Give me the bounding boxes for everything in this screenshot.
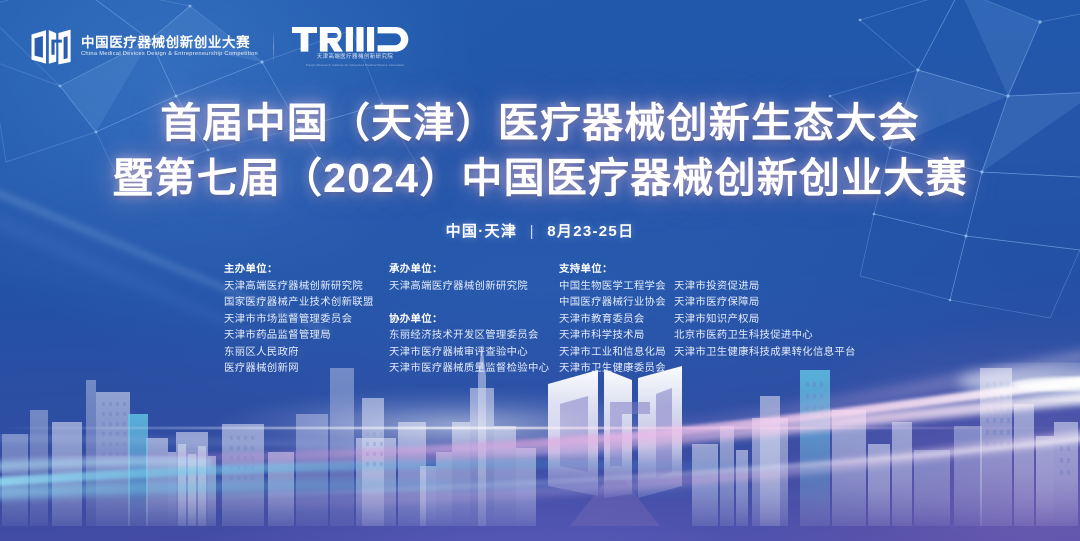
supporter-item: 天津市卫生健康科技成果转化信息平台	[674, 345, 856, 362]
title-line-1: 首届中国（天津）医疗器械创新生态大会	[0, 96, 1080, 151]
institute-name-cn: 天津高端医疗器械创新研究院	[317, 55, 394, 61]
coorganizer-item: 天津市医疗器械质量监督检验中心	[389, 361, 559, 378]
coorganizer-heading: 协办单位：	[389, 312, 559, 329]
organizers-column-supporter-continued: 天津市投资促进局 天津市医疗保障局 天津市知识产权局 北京市医药卫生科技促进中心…	[674, 262, 856, 361]
competition-name-cn: 中国医疗器械创新创业大赛	[81, 36, 255, 50]
host-item: 医疗器械创新网	[224, 361, 389, 378]
supporter-item: 天津市医疗保障局	[674, 295, 856, 312]
host-item: 国家医疗器械产业技术创新联盟	[224, 295, 389, 312]
organizers-block: 主办单位： 天津高端医疗器械创新研究院 国家医疗器械产业技术创新联盟 天津市市场…	[224, 262, 856, 378]
host-item: 天津市药品监督管理局	[224, 328, 389, 345]
horizon-glow	[216, 389, 696, 463]
supporter-item: 天津市工业和信息化局	[559, 345, 674, 362]
competition-logo: 中国医疗器械创新创业大赛 China Medical Devices Desig…	[30, 28, 255, 66]
meta-separator: |	[530, 223, 535, 240]
coorganizer-item: 天津市医疗器械审评查验中心	[389, 345, 559, 362]
supporter-item: 天津市卫生健康委员会	[559, 361, 674, 378]
organizers-column-host: 主办单位： 天津高端医疗器械创新研究院 国家医疗器械产业技术创新联盟 天津市市场…	[224, 262, 389, 378]
organizers-column-supporter: 支持单位： 中国生物医学工程学会 中国医疗器械行业协会 天津市教育委员会 天津市…	[559, 262, 674, 378]
title-line-2: 暨第七届（2024）中国医疗器械创新创业大赛	[0, 151, 1080, 206]
supporter-item: 中国医疗器械行业协会	[559, 295, 674, 312]
competition-name-en: China Medical Devices Design & Entrepren…	[81, 52, 258, 58]
organizers-column-organizer: 承办单位： 天津高端医疗器械创新研究院 协办单位： 东丽经济技术开发区管理委员会…	[389, 262, 559, 378]
supporter-item: 天津市知识产权局	[674, 312, 856, 329]
organizer-item: 天津高端医疗器械创新研究院	[389, 279, 559, 296]
coorganizer-item: 东丽经济技术开发区管理委员会	[389, 328, 559, 345]
supporter-item: 中国生物医学工程学会	[559, 279, 674, 296]
host-item: 天津市市场监督管理委员会	[224, 312, 389, 329]
institute-name-en: Tianjin Research Institute for Advanced …	[306, 64, 404, 67]
title-block: 首届中国（天津）医疗器械创新生态大会 暨第七届（2024）中国医疗器械创新创业大…	[0, 96, 1080, 241]
host-heading: 主办单位：	[224, 262, 389, 279]
supporter-item: 北京市医药卫生科技促进中心	[674, 328, 856, 345]
host-item: 东丽区人民政府	[224, 345, 389, 362]
horizon-line	[0, 427, 1080, 429]
supporter-item: 天津市科学技术局	[559, 328, 674, 345]
column-spacer	[389, 295, 559, 312]
host-item: 天津高端医疗器械创新研究院	[224, 279, 389, 296]
event-location: 中国·天津	[446, 223, 518, 240]
supporter-item: 天津市投资促进局	[674, 279, 856, 296]
open-book-door-mark-icon	[30, 28, 72, 66]
event-date: 8月23-25日	[547, 223, 634, 240]
supporter-heading: 支持单位：	[559, 262, 674, 279]
header-logos: 中国医疗器械创新创业大赛 China Medical Devices Desig…	[30, 27, 418, 67]
logo-divider	[273, 30, 274, 64]
competition-logo-text: 中国医疗器械创新创业大赛 China Medical Devices Desig…	[81, 36, 255, 58]
organizer-heading: 承办单位：	[389, 262, 559, 279]
supporter-item: 天津市教育委员会	[559, 312, 674, 329]
event-poster: 中国医疗器械创新创业大赛 China Medical Devices Desig…	[0, 0, 1080, 541]
institute-logo: 天津高端医疗器械创新研究院 Tianjin Research Institute…	[292, 27, 419, 67]
event-meta: 中国·天津 | 8月23-25日	[0, 220, 1080, 241]
competition-logo-monument	[548, 366, 682, 526]
triid-wordmark-icon	[292, 27, 419, 52]
